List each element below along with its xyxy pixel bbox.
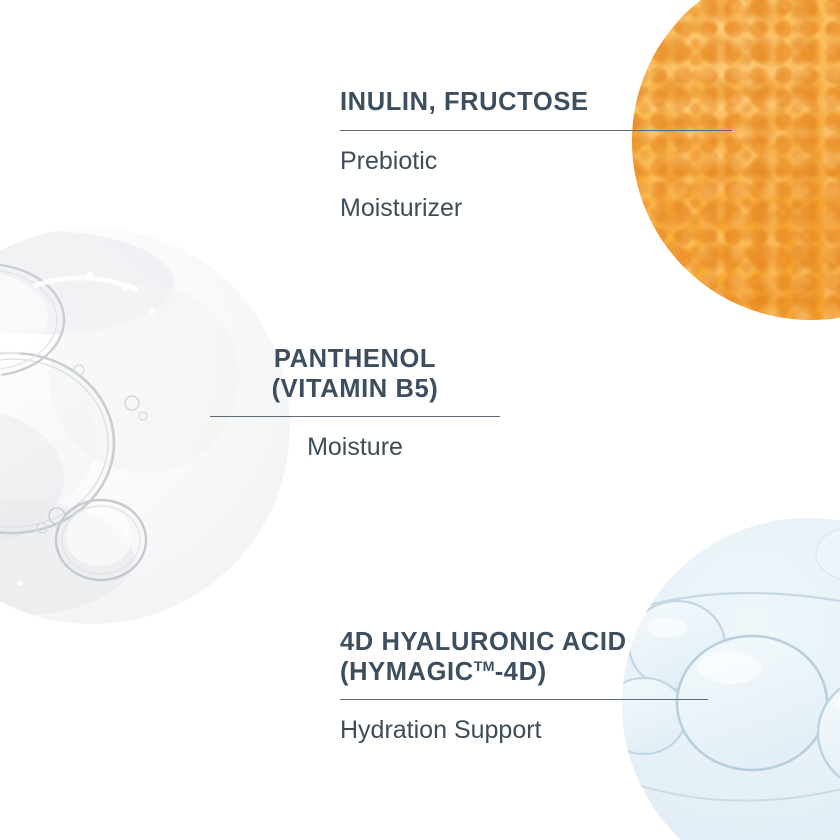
divider-rule-inulin [340, 130, 732, 131]
ingredient-benefit-inulin-line2: Moisturizer [340, 192, 732, 226]
ingredient-title-inulin-fructose: INULIN, FRUCTOSE [340, 88, 732, 118]
ingredient-title-panthenol-line2: (VITAMIN B5) [210, 375, 500, 405]
ingredient-block-panthenol: PANTHENOL (VITAMIN B5) Moisture [210, 345, 500, 465]
hymagic-prefix: (HYMAGIC [340, 658, 474, 686]
ingredient-benefit-inulin-line1: Prebiotic [340, 145, 732, 179]
ingredient-block-inulin-fructose: INULIN, FRUCTOSE Prebiotic Moisturizer [340, 88, 732, 226]
ingredient-title-hyaluronic-line2: (HYMAGICTM-4D) [340, 658, 708, 688]
ingredient-benefit-panthenol: Moisture [210, 431, 500, 465]
trademark-icon: TM [474, 659, 495, 675]
ingredient-block-4d-hyaluronic-acid: 4D HYALURONIC ACID (HYMAGICTM-4D) Hydrat… [340, 628, 708, 748]
hymagic-suffix: -4D) [495, 658, 547, 686]
ingredient-benefit-hyaluronic: Hydration Support [340, 714, 708, 748]
ingredient-title-panthenol-line1: PANTHENOL [210, 345, 500, 375]
ingredient-title-hyaluronic-line1: 4D HYALURONIC ACID [340, 628, 708, 658]
ingredient-infographic: INULIN, FRUCTOSE Prebiotic Moisturizer P… [0, 0, 840, 840]
divider-rule-hyaluronic [340, 699, 708, 700]
divider-rule-panthenol [210, 416, 500, 417]
